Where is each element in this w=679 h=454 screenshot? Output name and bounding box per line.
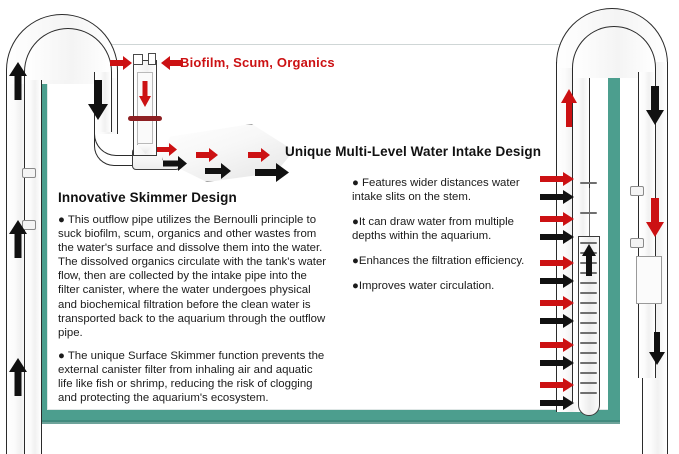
suction-cup-right-upper [630,186,644,196]
intake-slit [580,282,597,284]
red-arrow-right-icon [540,172,574,186]
intake-slit [580,392,597,394]
black-arrow-up-icon [8,60,28,102]
biofilm-scum-organics-label: Biofilm, Scum, Organics [180,55,335,70]
surface-skimmer-red-band [128,116,162,121]
suction-cup-right-lower [630,238,644,248]
black-arrow-right-icon [540,396,574,410]
list-item: ●Improves water circulation. [352,279,542,293]
black-arrow-up-icon [8,356,28,398]
tank-bottom-shadow [35,420,620,424]
intake-slit [580,382,597,384]
red-arrow-right-icon [110,56,132,70]
intake-pipe-coupler [636,256,662,304]
intake-slit [580,312,597,314]
surface-skimmer-intake-port-left [133,54,143,65]
intake-slit [580,292,597,294]
skimmer-paragraph-2: ● The unique Surface Skimmer function pr… [58,349,330,405]
red-arrow-right-icon [540,338,574,352]
red-arrow-right-icon [540,296,574,310]
black-arrow-right-icon [540,356,574,370]
black-arrow-right-icon [255,163,289,182]
red-arrow-down-icon [138,80,152,108]
black-arrow-right-icon [540,190,574,204]
intake-slit [580,372,597,374]
intake-feature-list: ● Features wider distances water intake … [352,176,542,305]
black-arrow-right-icon [540,314,574,328]
intake-slit [580,182,597,184]
red-arrow-up-icon [560,88,578,128]
red-arrow-right-icon [248,148,270,162]
suction-cup-left-upper [22,168,36,178]
list-item: ● Features wider distances water intake … [352,176,542,204]
black-arrow-down-icon [86,78,110,122]
multi-level-intake-design-title: Unique Multi-Level Water Intake Design [285,144,541,159]
red-arrow-right-icon [157,143,177,156]
list-item: ●Enhances the filtration efficiency. [352,254,542,268]
list-item: ●It can draw water from multiple depths … [352,215,542,243]
red-arrow-right-icon [196,148,218,162]
intake-slit [580,332,597,334]
infographic-canvas: Biofilm, Scum, Organics Innovative Skimm… [0,0,679,454]
water-surface-line [47,44,608,45]
skimmer-paragraph-1: ● This outflow pipe utilizes the Bernoul… [58,213,330,340]
intake-slit [580,352,597,354]
red-arrow-down-icon [644,196,666,238]
black-arrow-down-icon [648,330,666,366]
black-arrow-right-icon [540,230,574,244]
tank-wall-right [608,42,620,422]
red-arrow-right-icon [540,378,574,392]
intake-slit [580,322,597,324]
black-arrow-down-icon [644,84,666,126]
black-arrow-right-icon [163,156,187,171]
black-arrow-up-icon [8,218,28,260]
black-arrow-right-icon [540,274,574,288]
innovative-skimmer-design-title: Innovative Skimmer Design [58,190,237,205]
black-arrow-right-icon [205,163,231,179]
red-arrow-right-icon [540,256,574,270]
intake-slit [580,212,597,214]
intake-slit [580,362,597,364]
intake-slit [580,302,597,304]
black-arrow-up-icon [581,243,597,277]
red-arrow-right-icon [540,212,574,226]
surface-skimmer-intake-port-right [148,53,156,65]
intake-slit [580,342,597,344]
